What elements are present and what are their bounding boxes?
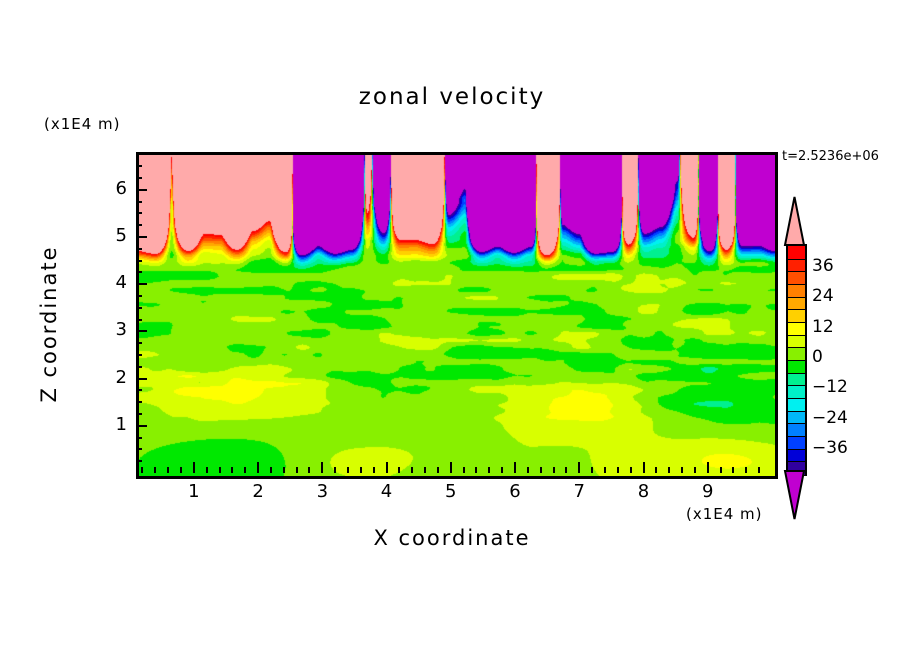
x-axis-minor-tick — [540, 467, 542, 473]
colorbar-over-arrow-icon — [779, 196, 810, 246]
colorbar-band — [788, 297, 805, 310]
colorbar-under-arrow-icon — [779, 470, 810, 520]
x-axis-major-tick — [321, 462, 323, 473]
colorbar-band — [788, 423, 805, 436]
figure-root: zonal velocity (x1E4 m) (x1E4 m) t=2.523… — [0, 0, 904, 654]
colorbar-band-separator — [788, 297, 805, 298]
y-axis-minor-tick — [136, 212, 142, 214]
x-axis-minor-tick — [501, 467, 503, 473]
colorbar-band-separator — [788, 436, 805, 437]
y-axis-tick-label: 6 — [97, 178, 127, 199]
x-axis-tick-label: 2 — [243, 481, 273, 502]
y-axis-minor-tick — [136, 177, 142, 179]
y-axis-minor-tick — [136, 165, 142, 167]
colorbar-band-separator — [788, 322, 805, 323]
x-axis-tick-label: 8 — [629, 481, 659, 502]
colorbar-band-separator — [788, 398, 805, 399]
x-axis-minor-tick — [360, 467, 362, 473]
y-axis-minor-tick — [136, 342, 142, 344]
y-axis-tick-label: 2 — [97, 367, 127, 388]
x-axis-tick-label: 9 — [693, 481, 723, 502]
colorbar-band — [788, 347, 805, 360]
contour-field-canvas — [139, 155, 775, 476]
y-axis-minor-tick — [136, 201, 142, 203]
x-axis-minor-tick — [630, 467, 632, 473]
x-axis-minor-tick — [604, 467, 606, 473]
colorbar-band — [788, 373, 805, 386]
colorbar-band — [788, 449, 805, 462]
x-axis-tick-label: 4 — [372, 481, 402, 502]
x-axis-minor-tick — [347, 467, 349, 473]
y-axis-tick-label: 1 — [97, 414, 127, 435]
x-axis-minor-tick — [334, 467, 336, 473]
x-axis-minor-tick — [437, 467, 439, 473]
colorbar-tick-label: 36 — [812, 256, 834, 276]
x-axis-major-tick — [643, 462, 645, 473]
colorbar-band-separator — [788, 449, 805, 450]
y-axis-minor-tick — [136, 248, 142, 250]
colorbar-band-separator — [788, 385, 805, 386]
x-axis-tick-label: 3 — [307, 481, 337, 502]
x-axis-minor-tick — [463, 467, 465, 473]
y-axis-tick-label: 5 — [97, 225, 127, 246]
colorbar-tick-label: −24 — [812, 408, 848, 428]
x-axis-minor-tick — [398, 467, 400, 473]
colorbar-band-separator — [788, 335, 805, 336]
y-axis-minor-tick — [136, 354, 142, 356]
y-axis-major-tick — [136, 189, 147, 191]
colorbar-band-separator — [788, 347, 805, 348]
x-axis-minor-tick — [720, 467, 722, 473]
x-axis-minor-tick — [296, 467, 298, 473]
x-axis-minor-tick — [244, 467, 246, 473]
x-axis-minor-tick — [758, 467, 760, 473]
x-axis-minor-tick — [591, 467, 593, 473]
y-axis-minor-tick — [136, 153, 142, 155]
y-axis-title: Z coordinate — [37, 244, 61, 404]
colorbar-band — [788, 259, 805, 272]
x-axis-minor-tick — [617, 467, 619, 473]
x-axis-tick-label: 1 — [179, 481, 209, 502]
x-axis-major-tick — [386, 462, 388, 473]
x-axis-minor-tick — [180, 467, 182, 473]
colorbar-band-separator — [788, 461, 805, 462]
x-axis-minor-tick — [424, 467, 426, 473]
x-axis-minor-tick — [231, 467, 233, 473]
x-axis-tick-label: 6 — [500, 481, 530, 502]
y-axis-major-tick — [136, 330, 147, 332]
x-axis-minor-tick — [373, 467, 375, 473]
x-axis-minor-tick — [655, 467, 657, 473]
colorbar-band — [788, 335, 805, 348]
colorbar — [786, 244, 807, 476]
x-axis-minor-tick — [527, 467, 529, 473]
x-axis-minor-tick — [488, 467, 490, 473]
colorbar-band-separator — [788, 284, 805, 285]
colorbar-tick-label: 0 — [812, 347, 823, 367]
x-axis-major-tick — [257, 462, 259, 473]
y-axis-tick-label: 3 — [97, 319, 127, 340]
x-axis-major-tick — [450, 462, 452, 473]
y-axis-minor-tick — [136, 307, 142, 309]
colorbar-band — [788, 309, 805, 322]
x-axis-minor-tick — [681, 467, 683, 473]
x-axis-minor-tick — [732, 467, 734, 473]
y-axis-major-tick — [136, 283, 147, 285]
x-axis-major-tick — [514, 462, 516, 473]
y-axis-minor-tick — [136, 401, 142, 403]
colorbar-band — [788, 436, 805, 449]
x-axis-tick-label: 7 — [564, 481, 594, 502]
x-axis-minor-tick — [411, 467, 413, 473]
x-axis-minor-tick — [154, 467, 156, 473]
x-axis-minor-tick — [565, 467, 567, 473]
y-axis-major-tick — [136, 425, 147, 427]
colorbar-tick-label: 24 — [812, 286, 834, 306]
colorbar-band — [788, 284, 805, 297]
colorbar-band-separator — [788, 309, 805, 310]
colorbar-band-separator — [788, 423, 805, 424]
colorbar-tick-label: −36 — [812, 438, 848, 458]
x-axis-minor-tick — [308, 467, 310, 473]
x-axis-minor-tick — [553, 467, 555, 473]
colorbar-band — [788, 246, 805, 259]
y-axis-units-label: (x1E4 m) — [44, 115, 121, 133]
x-axis-minor-tick — [283, 467, 285, 473]
x-axis-tick-label: 5 — [436, 481, 466, 502]
x-axis-minor-tick — [206, 467, 208, 473]
colorbar-band — [788, 398, 805, 411]
x-axis-minor-tick — [141, 467, 143, 473]
colorbar-band — [788, 322, 805, 335]
colorbar-band — [788, 385, 805, 398]
y-axis-minor-tick — [136, 389, 142, 391]
colorbar-band-separator — [788, 259, 805, 260]
page-title: zonal velocity — [0, 84, 904, 110]
y-axis-minor-tick — [136, 437, 142, 439]
y-axis-minor-tick — [136, 224, 142, 226]
y-axis-minor-tick — [136, 366, 142, 368]
x-axis-minor-tick — [668, 467, 670, 473]
x-axis-units-label: (x1E4 m) — [686, 505, 763, 523]
colorbar-band-separator — [788, 360, 805, 361]
timestamp-annotation: t=2.5236e+06 — [782, 149, 879, 164]
colorbar-band-separator — [788, 411, 805, 412]
x-axis-minor-tick — [745, 467, 747, 473]
x-axis-minor-tick — [694, 467, 696, 473]
colorbar-band-separator — [788, 271, 805, 272]
x-axis-minor-tick — [219, 467, 221, 473]
plot-area — [136, 152, 778, 479]
x-axis-minor-tick — [167, 467, 169, 473]
y-axis-minor-tick — [136, 271, 142, 273]
x-axis-major-tick — [578, 462, 580, 473]
y-axis-minor-tick — [136, 260, 142, 262]
y-axis-minor-tick — [136, 448, 142, 450]
y-axis-major-tick — [136, 236, 147, 238]
x-axis-minor-tick — [270, 467, 272, 473]
colorbar-band — [788, 271, 805, 284]
colorbar-band — [788, 411, 805, 424]
colorbar-band — [788, 360, 805, 373]
colorbar-tick-label: −12 — [812, 377, 848, 397]
x-axis-minor-tick — [475, 467, 477, 473]
y-axis-minor-tick — [136, 295, 142, 297]
y-axis-minor-tick — [136, 460, 142, 462]
colorbar-tick-label: 12 — [812, 317, 834, 337]
colorbar-band-separator — [788, 373, 805, 374]
x-axis-major-tick — [193, 462, 195, 473]
x-axis-title: X coordinate — [0, 526, 904, 550]
y-axis-minor-tick — [136, 413, 142, 415]
y-axis-major-tick — [136, 378, 147, 380]
y-axis-minor-tick — [136, 319, 142, 321]
x-axis-major-tick — [707, 462, 709, 473]
y-axis-tick-label: 4 — [97, 272, 127, 293]
